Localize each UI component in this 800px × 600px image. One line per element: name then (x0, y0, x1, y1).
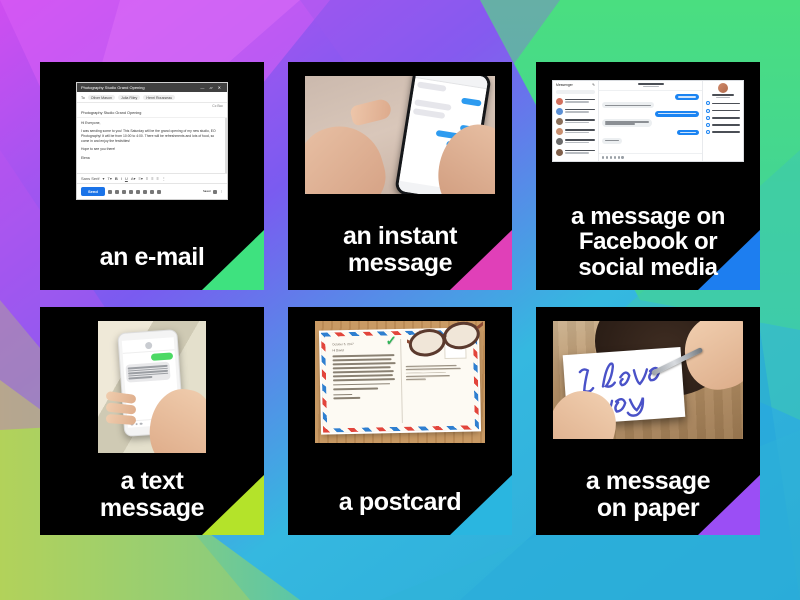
gif-icon[interactable] (614, 156, 616, 158)
messenger-app-header: Messenger ✎ (553, 81, 598, 89)
drive-icon[interactable] (136, 190, 140, 194)
card-postcard-caption: a postcard (288, 489, 512, 522)
photo-hands-holding-phone (305, 76, 495, 194)
photo-postcard-on-table: October 5, 2017 Hi David (315, 321, 485, 443)
outgoing-bubble (655, 111, 699, 117)
signature-icon[interactable] (157, 190, 161, 194)
card-social-media-caption: a message on Facebook or social media (536, 204, 760, 286)
conversation-preview (565, 129, 595, 134)
caption-line: message (46, 495, 258, 522)
format-icon[interactable] (108, 190, 112, 194)
italic-icon[interactable]: I (121, 176, 122, 181)
recipient-chip[interactable]: Julia Riley (118, 95, 140, 100)
emoji-icon (706, 123, 710, 127)
indent-icon[interactable]: ≡ (157, 176, 159, 181)
list-item[interactable] (553, 127, 598, 137)
thumbs-up-icon[interactable] (621, 156, 623, 158)
incoming-sms-bubble (125, 362, 170, 383)
conversation-preview (565, 109, 595, 114)
card-text-message[interactable]: a text message (40, 307, 264, 535)
caption-line: Facebook or (542, 229, 754, 254)
card-email-media: Photography Studio Grand Opening — ▱ ✕ T… (40, 62, 264, 200)
sticker-icon[interactable] (610, 156, 612, 158)
compose-window-title: Photography Studio Grand Opening (81, 85, 145, 90)
saved-status: Saved (203, 190, 210, 193)
outgoing-bubble (461, 98, 481, 107)
card-social-media[interactable]: Messenger ✎ (536, 62, 760, 290)
flashcard-grid: Photography Studio Grand Opening — ▱ ✕ T… (0, 0, 800, 600)
align-icon[interactable]: ≡▾ (139, 176, 143, 181)
details-option[interactable] (706, 114, 740, 121)
details-option[interactable] (706, 107, 740, 114)
avatar (718, 83, 728, 93)
trash-icon[interactable] (213, 190, 217, 194)
card-paper-message-media (536, 307, 760, 439)
conversation-preview (565, 139, 595, 144)
formatting-toolbar[interactable]: Sans Serif ▾ T▾ B I U A▾ ≡▾ ≡ ≡ ≡ ⋮ (77, 173, 227, 183)
thread-header (599, 81, 702, 91)
more-options-icon[interactable]: ⋮ (220, 190, 223, 193)
postcard-message-side: October 5, 2017 Hi David (329, 339, 402, 424)
green-check-icon: ✓ (386, 334, 397, 347)
conversation-preview (565, 150, 595, 155)
edit-icon (706, 109, 710, 113)
body-line: Elena (81, 156, 221, 161)
card-email[interactable]: Photography Studio Grand Opening — ▱ ✕ T… (40, 62, 264, 290)
list-item[interactable] (553, 147, 598, 157)
avatar (556, 118, 563, 125)
card-instant-message-caption: an instant message (288, 223, 512, 282)
conversation-list-panel[interactable]: Messenger ✎ (553, 81, 599, 161)
card-social-media-media: Messenger ✎ (536, 62, 760, 162)
fingers (106, 393, 140, 437)
list-bulleted-icon[interactable]: ≡ (151, 176, 153, 181)
card-text-message-media (40, 307, 264, 453)
list-item[interactable] (553, 116, 598, 126)
card-instant-message[interactable]: an instant message (288, 62, 512, 290)
card-email-caption: an e-mail (40, 244, 264, 277)
messenger-window: Messenger ✎ (552, 80, 744, 162)
emoji-icon[interactable] (129, 190, 133, 194)
details-option[interactable] (706, 100, 740, 107)
contact-profile (706, 83, 740, 98)
text-size-icon[interactable]: T▾ (107, 176, 111, 181)
send-button[interactable]: Send (81, 187, 105, 196)
caption-line: social media (542, 255, 754, 280)
avatar (556, 138, 563, 145)
postcard-address (405, 365, 467, 383)
incoming-bubble (602, 119, 652, 127)
underline-icon[interactable]: U (125, 176, 128, 181)
incoming-bubble (413, 108, 445, 119)
conversation-preview (565, 119, 595, 124)
text-color-icon[interactable]: A▾ (131, 176, 136, 181)
caption-line: a postcard (294, 489, 506, 516)
messenger-title: Messenger (556, 83, 573, 87)
body-line: I was sending some to you! This Saturday… (81, 129, 221, 144)
plus-icon[interactable] (602, 156, 604, 158)
caption-line: a text (46, 468, 258, 495)
recipient-chip[interactable]: Oliver Mason (88, 95, 115, 100)
body-line: Hope to see you there! (81, 147, 221, 152)
caption-line: a message on (542, 204, 754, 229)
incoming-bubble (417, 81, 447, 91)
photo-hand-holding-iphone (98, 321, 206, 453)
caption-line: an e-mail (46, 244, 258, 271)
contact-details-panel[interactable] (703, 81, 743, 161)
recipient-chip[interactable]: Henri Rousseau (143, 95, 175, 100)
outgoing-bubble (675, 94, 699, 100)
recipient-row[interactable]: To Oliver Mason Julia Riley Henri Rousse… (77, 92, 227, 103)
avatar (556, 108, 563, 115)
search-icon (706, 101, 710, 105)
chat-thread-panel[interactable] (599, 81, 703, 161)
bold-icon[interactable]: B (115, 176, 118, 181)
link-icon[interactable] (122, 190, 126, 194)
eyeglasses (407, 321, 483, 363)
subject-field[interactable]: Photography Studio Grand Opening (77, 109, 227, 118)
message-input-bar[interactable] (599, 153, 702, 161)
new-message-icon[interactable]: ✎ (592, 83, 595, 87)
compose-title-bar: Photography Studio Grand Opening — ▱ ✕ (77, 83, 227, 92)
to-label: To (81, 96, 85, 100)
postcard-message-text (332, 354, 397, 390)
card-text-message-caption: a text message (40, 468, 264, 527)
avatar (556, 128, 563, 135)
window-controls-icons[interactable]: — ▱ ✕ (200, 85, 223, 90)
message-body[interactable]: Hi Everyone, I was sending some to you! … (77, 118, 227, 173)
search-input[interactable] (556, 90, 595, 94)
left-hand (305, 116, 393, 194)
incoming-bubble (602, 138, 622, 144)
font-size-icon[interactable]: ▾ (102, 176, 104, 181)
card-instant-message-media (288, 62, 512, 194)
details-option[interactable] (706, 121, 740, 128)
outgoing-sms-bubble (151, 352, 173, 361)
incoming-bubble (602, 102, 654, 108)
list-item[interactable] (553, 137, 598, 147)
card-paper-message-caption: a message on paper (536, 468, 760, 527)
caption-line: a message (542, 468, 754, 495)
caption-line: on paper (542, 495, 754, 522)
lock-icon[interactable] (150, 190, 154, 194)
image-icon[interactable] (143, 190, 147, 194)
details-option[interactable] (706, 129, 740, 136)
conversation-preview (565, 99, 595, 104)
gmail-compose-window: Photography Studio Grand Opening — ▱ ✕ T… (76, 82, 228, 200)
font-family-select[interactable]: Sans Serif (81, 176, 99, 181)
card-postcard[interactable]: October 5, 2017 Hi David (288, 307, 512, 535)
compose-trailing-actions[interactable]: Saved ⋮ (203, 190, 223, 194)
color-icon (706, 116, 710, 120)
card-postcard-media: October 5, 2017 Hi David (288, 307, 512, 443)
contact-avatar (144, 341, 151, 348)
compose-action-bar[interactable]: Send Saved ⋮ (77, 183, 227, 199)
caption-line: message (294, 250, 506, 277)
pointing-finger (349, 97, 393, 126)
image-icon[interactable] (606, 156, 608, 158)
photo-handwritten-note (553, 321, 743, 439)
avatar (556, 149, 563, 156)
caption-line: an instant (294, 223, 506, 250)
list-item[interactable] (553, 96, 598, 106)
attach-icon[interactable] (115, 190, 119, 194)
more-format-icon[interactable]: ⋮ (162, 176, 166, 181)
outgoing-bubble (677, 130, 699, 136)
list-numbered-icon[interactable]: ≡ (146, 176, 148, 181)
card-paper-message[interactable]: a message on paper (536, 307, 760, 535)
emoji-icon[interactable] (618, 156, 620, 158)
list-item[interactable] (553, 106, 598, 116)
body-line: Hi Everyone, (81, 121, 221, 126)
message-list (599, 91, 702, 153)
postcard-signature (333, 393, 398, 400)
avatar (556, 98, 563, 105)
add-people-icon (706, 130, 710, 134)
